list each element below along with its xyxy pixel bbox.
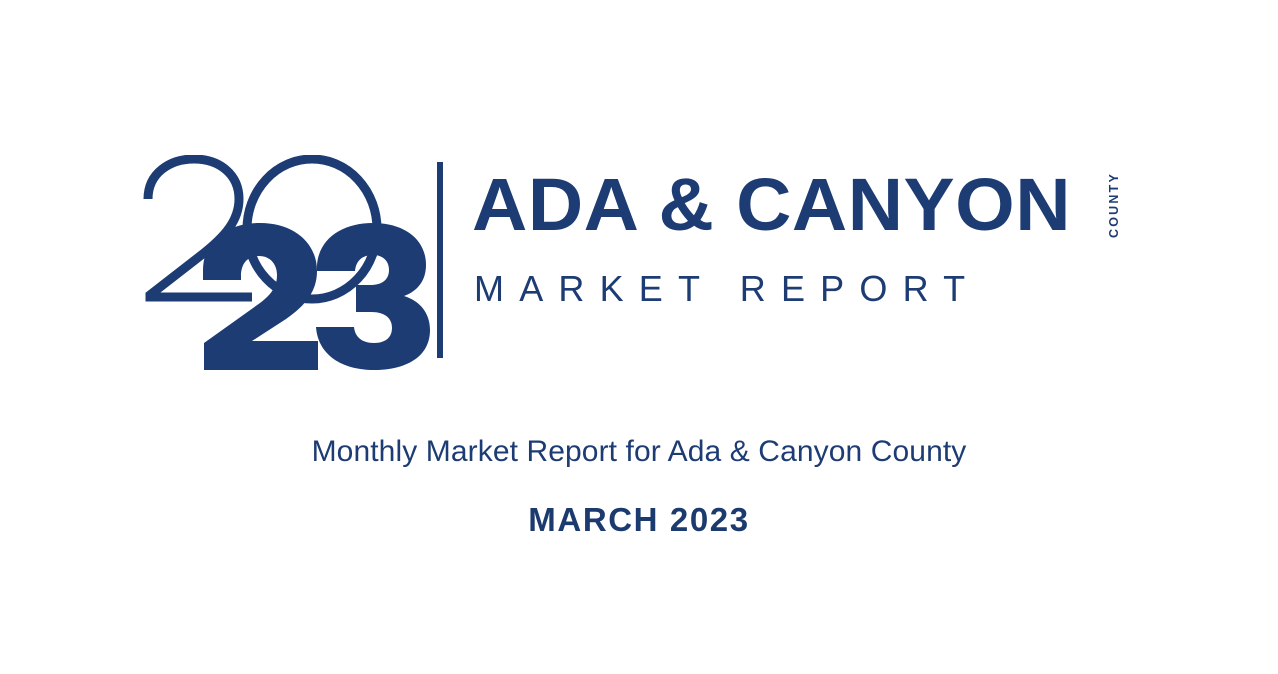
logo-wordmark-primary: ADA & CANYON	[472, 172, 1071, 238]
cover-caption-block: Monthly Market Report for Ada & Canyon C…	[0, 430, 1278, 540]
logo-wordmark-secondary: MARKET REPORT	[474, 272, 980, 306]
cover-subtitle: Monthly Market Report for Ada & Canyon C…	[0, 430, 1278, 474]
brand-logo-lockup: ADA & CANYON COUNTY MARKET REPORT	[0, 150, 1278, 370]
logo-year-mark	[140, 155, 430, 370]
logo-wordmark-qualifier: COUNTY	[1107, 172, 1121, 238]
logo-wordmark: ADA & CANYON COUNTY MARKET REPORT	[472, 150, 1132, 365]
logo-year-solid-23-icon	[198, 223, 430, 370]
logo-divider-rule	[437, 162, 443, 358]
report-cover-page: ADA & CANYON COUNTY MARKET REPORT Monthl…	[0, 0, 1278, 674]
cover-report-date: MARCH 2023	[0, 500, 1278, 540]
